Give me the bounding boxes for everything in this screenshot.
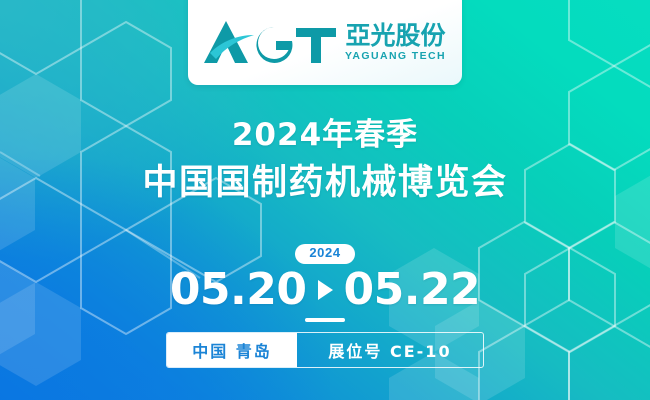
date-start: 05.20 (170, 268, 307, 312)
headline-block: 2024年春季 中国国制药机械博览会 (0, 118, 650, 203)
date-block: 2024 05.20 05.22 (0, 244, 650, 322)
date-end: 05.22 (344, 268, 481, 312)
promo-banner: 亞光股份 YAGUANG TECH 2024年春季 中国国制药机械博览会 202… (0, 0, 650, 400)
footer-location: 中国 青岛 (167, 333, 297, 367)
logo-company-cn: 亞光股份 (345, 23, 445, 48)
play-triangle-icon (318, 280, 333, 300)
headline-line-2: 中国国制药机械博览会 (0, 163, 650, 203)
date-range-row: 05.20 05.22 (170, 268, 480, 312)
headline-line-1: 2024年春季 (0, 118, 650, 154)
date-underline-rule (305, 318, 345, 322)
year-badge: 2024 (295, 244, 354, 264)
agt-logo-mark (204, 19, 336, 65)
logo-company-en: YAGUANG TECH (345, 51, 446, 62)
footer-booth-number: 展位号 CE-10 (297, 333, 483, 367)
logo-card: 亞光股份 YAGUANG TECH (188, 0, 462, 85)
footer-info-bar: 中国 青岛 展位号 CE-10 (166, 332, 484, 368)
logo-lockup: 亞光股份 YAGUANG TECH (204, 19, 446, 65)
logo-company-names: 亞光股份 YAGUANG TECH (345, 23, 446, 62)
